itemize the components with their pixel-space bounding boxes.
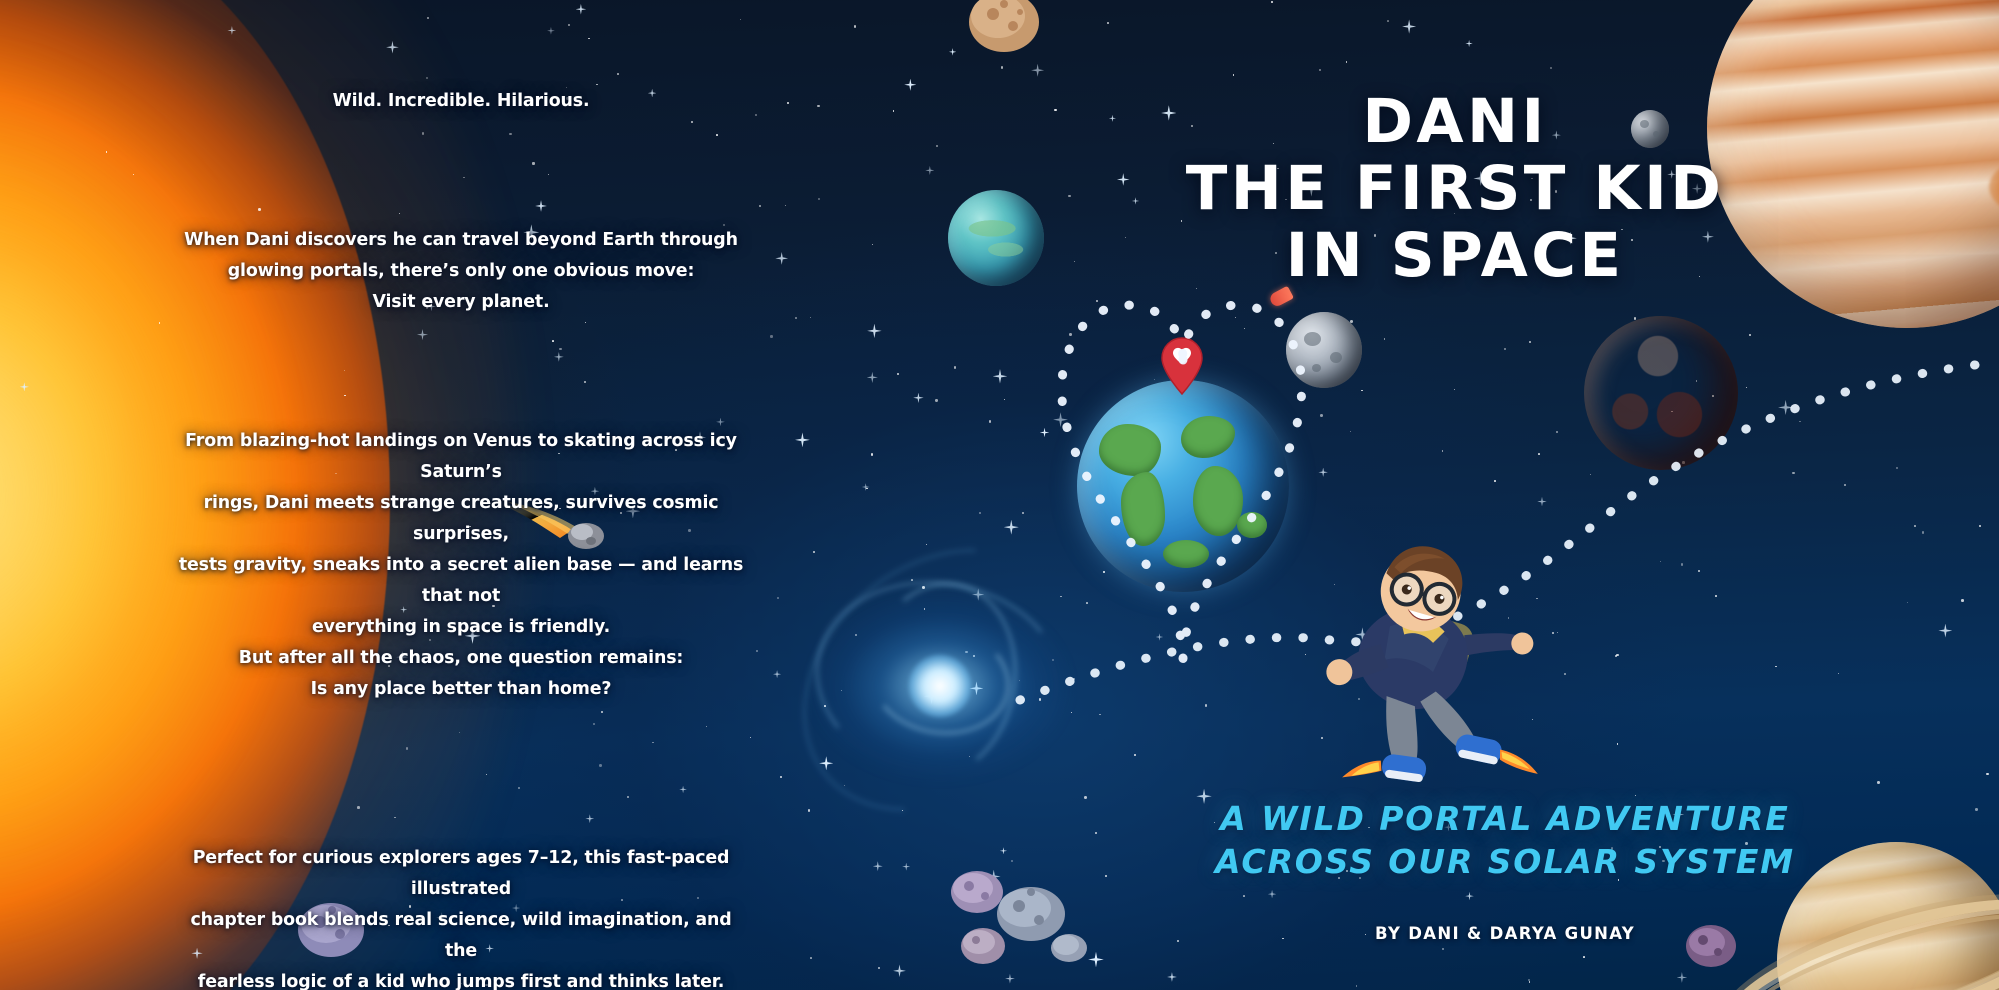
paragraph-line: tests gravity, sneaks into a secret alie… [172,550,750,612]
author-byline: BY DANI & DARYA GUNAY [1180,924,1830,943]
book-title: DANI THE FIRST KID IN SPACE [1050,88,1860,289]
mars-surface-texture [1584,316,1738,470]
paragraph-line: But after all the chaos, one question re… [172,643,750,674]
mars-planet [1584,316,1738,470]
galaxy-core [909,655,971,717]
asteroid-top [965,0,1043,56]
paragraph-line: rings, Dani meets strange creatures, sur… [172,488,750,550]
paragraph-line: everything in space is friendly. [172,612,750,643]
asteroid-cluster [935,862,1095,972]
moon-planet [1286,312,1362,388]
paragraph-line: Visit every planet. [172,287,750,318]
boy-astronaut-character [1285,528,1555,798]
paragraph-line: Perfect for curious explorers ages 7–12,… [172,843,750,905]
tagline: Wild. Incredible. Hilarious. [172,86,750,117]
subtitle-line-1: A WILD PORTAL ADVENTURE [1180,798,1830,841]
spiral-galaxy [760,530,1120,830]
paragraph-line: When Dani discovers he can travel beyond… [172,225,750,256]
paragraph-line: glowing portals, there’s only one obviou… [172,256,750,287]
title-line-1: DANI [1050,88,1860,155]
book-subtitle: A WILD PORTAL ADVENTURE ACROSS OUR SOLAR… [1180,798,1830,884]
book-cover: Wild. Incredible. Hilarious. When Dani d… [0,0,1999,990]
back-cover-text: Wild. Incredible. Hilarious. When Dani d… [172,86,750,990]
paragraph-line: fearless logic of a kid who jumps first … [172,967,750,990]
paragraph-line: chapter book blends real science, wild i… [172,905,750,967]
back-paragraph-3: Perfect for curious explorers ages 7–12,… [172,843,750,990]
teal-planet-texture [948,190,1044,286]
back-paragraph-1: When Dani discovers he can travel beyond… [172,225,750,318]
subtitle-line-2: ACROSS OUR SOLAR SYSTEM [1180,841,1830,884]
title-line-3: IN SPACE [1050,222,1860,289]
paragraph-line: From blazing-hot landings on Venus to sk… [172,426,750,488]
teal-planet [948,190,1044,286]
paragraph-line: Is any place better than home? [172,674,750,705]
title-line-2: THE FIRST KID [1050,155,1860,222]
jupiter-great-red-spot [1989,156,1999,218]
location-pin-marker [1160,336,1204,396]
back-paragraph-2: From blazing-hot landings on Venus to sk… [172,426,750,705]
